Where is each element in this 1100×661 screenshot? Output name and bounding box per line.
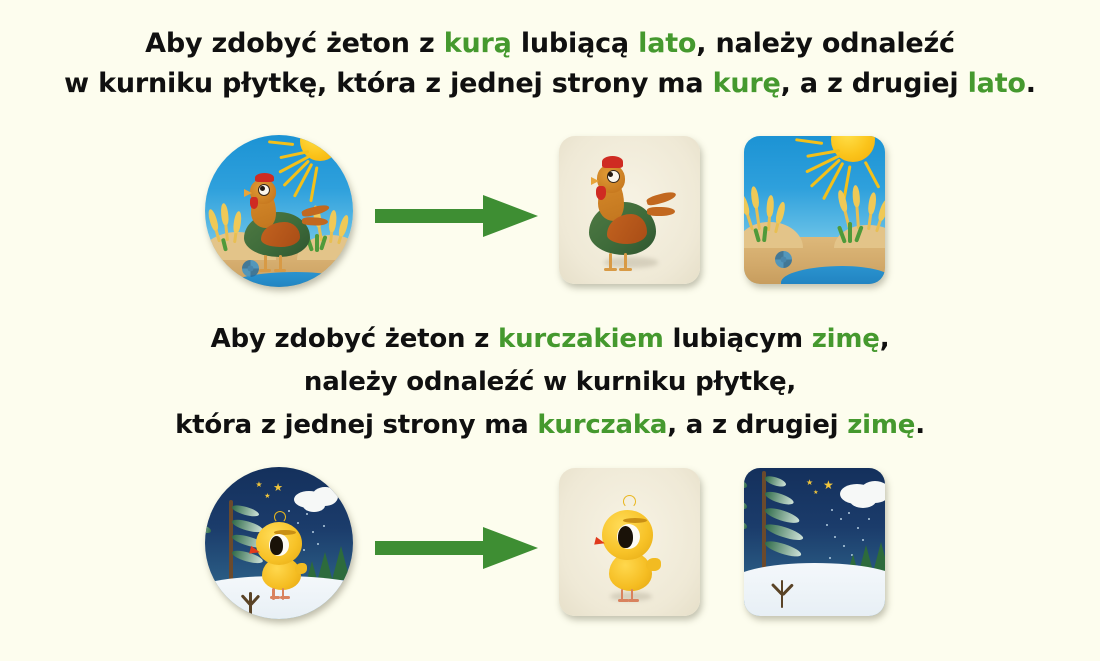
chick-foot: [280, 596, 290, 599]
star-dot: [288, 510, 290, 512]
arrow-right-icon: [375, 192, 540, 240]
hen-pupil: [260, 186, 265, 191]
star-icon: ★: [823, 480, 834, 491]
text-segment: Aby zdobyć żeton z: [145, 28, 444, 59]
row-winter: ★ ★ ★: [0, 462, 1100, 632]
text-segment: , a z drugiej: [781, 68, 968, 99]
hen-foot: [274, 269, 286, 272]
row-summer: [0, 130, 1100, 300]
star-icon: ★: [813, 487, 818, 498]
tile-summer-landscape[interactable]: [744, 136, 885, 284]
tile-winter-landscape[interactable]: ★ ★ ★: [744, 468, 885, 616]
chick-illustration: [252, 519, 311, 598]
token-winter-round[interactable]: ★ ★ ★: [205, 467, 353, 619]
hen-wattle: [596, 186, 606, 200]
chick-pupil: [270, 536, 283, 555]
hen-tail-feather: [646, 190, 677, 207]
keyword-kurczaka: kurczaka: [537, 410, 667, 440]
star-icon: ★: [806, 477, 813, 488]
hen-beak: [244, 189, 252, 197]
text-segment: ,: [880, 324, 890, 354]
chick-topknot: [623, 495, 636, 508]
hen-comb: [602, 156, 622, 168]
text-segment: w kurniku płytkę, która z jednej strony …: [64, 68, 712, 99]
chick-topknot: [274, 511, 286, 523]
instruction-line: w kurniku płytkę, która z jednej strony …: [0, 64, 1100, 104]
cloud: [850, 493, 876, 508]
hen-leg: [609, 253, 612, 269]
summer-scene: [744, 136, 885, 284]
tile-chick[interactable]: [559, 468, 700, 616]
arrow-right-icon: [375, 524, 540, 572]
keyword-zime: zimę: [812, 324, 880, 354]
hen-tail-feather: [647, 207, 675, 216]
text-segment: , a z drugiej: [667, 410, 847, 440]
tree-trunk: [762, 471, 766, 575]
hen-leg: [624, 253, 627, 269]
keyword-lato: lato: [968, 68, 1026, 99]
tree-trunk: [229, 500, 233, 585]
text-segment: .: [915, 410, 925, 440]
text-segment: lubiącą: [512, 28, 639, 59]
text-segment: , należy odnaleźć: [696, 28, 955, 59]
instruction-text-summer: Aby zdobyć żeton z kurą lubiącą lato, na…: [0, 24, 1100, 104]
hen-illustration: [232, 168, 339, 271]
instruction-line: należy odnaleźć w kurniku płytkę,: [0, 361, 1100, 404]
text-segment: Aby zdobyć żeton z: [211, 324, 498, 354]
chick-foot: [618, 599, 629, 602]
star-dot: [829, 557, 831, 559]
fir-tree: [332, 546, 350, 580]
instruction-line: Aby zdobyć żeton z kurczakiem lubiącym z…: [0, 318, 1100, 361]
text-segment: .: [1026, 68, 1036, 99]
hen-tail-feather: [302, 217, 328, 226]
hen-comb: [255, 173, 274, 182]
instruction-text-winter: Aby zdobyć żeton z kurczakiem lubiącym z…: [0, 318, 1100, 447]
keyword-kura: kurą: [444, 28, 512, 59]
chick-pupil: [618, 526, 633, 548]
page-root: Aby zdobyć żeton z kurą lubiącą lato, na…: [0, 0, 1100, 661]
token-summer-round[interactable]: [205, 135, 353, 287]
keyword-kure: kurę: [713, 68, 781, 99]
text-segment: która z jednej strony ma: [175, 410, 537, 440]
snow-ground: [744, 563, 885, 616]
cloud: [303, 499, 325, 512]
star-icon: ★: [273, 482, 283, 493]
keyword-kurczakiem: kurczakiem: [498, 324, 664, 354]
hen-wing: [261, 222, 299, 247]
hen-foot: [619, 268, 632, 271]
text-segment: lubiącym: [664, 324, 812, 354]
arrow-summer: [375, 192, 540, 240]
chick-foot: [270, 596, 280, 599]
star-dot: [843, 545, 845, 547]
keyword-lato: lato: [638, 28, 696, 59]
hen-wattle: [250, 197, 259, 208]
hen-beak: [591, 177, 599, 185]
star-icon: ★: [255, 479, 262, 490]
winter-scene: ★ ★ ★: [744, 468, 885, 616]
hen-foot: [259, 269, 271, 272]
chick-tail: [646, 558, 660, 571]
tile-hen[interactable]: [559, 136, 700, 284]
instruction-line: Aby zdobyć żeton z kurą lubiącą lato, na…: [0, 24, 1100, 64]
star-dot: [312, 531, 314, 533]
chick-foot: [628, 599, 639, 602]
hen-tail-feather: [301, 203, 330, 218]
keyword-zime: zimę: [847, 410, 915, 440]
chick-tail: [295, 563, 307, 574]
chick-beak: [594, 537, 606, 547]
hen-illustration: [579, 154, 686, 269]
chick-illustration: [598, 506, 663, 598]
grass-tuft: [848, 222, 852, 243]
hen-foot: [604, 268, 617, 271]
star-dot: [306, 513, 308, 515]
instruction-line: która z jednej strony ma kurczaka, a z d…: [0, 404, 1100, 447]
star-icon: ★: [264, 491, 270, 502]
arrow-winter: [375, 524, 540, 572]
